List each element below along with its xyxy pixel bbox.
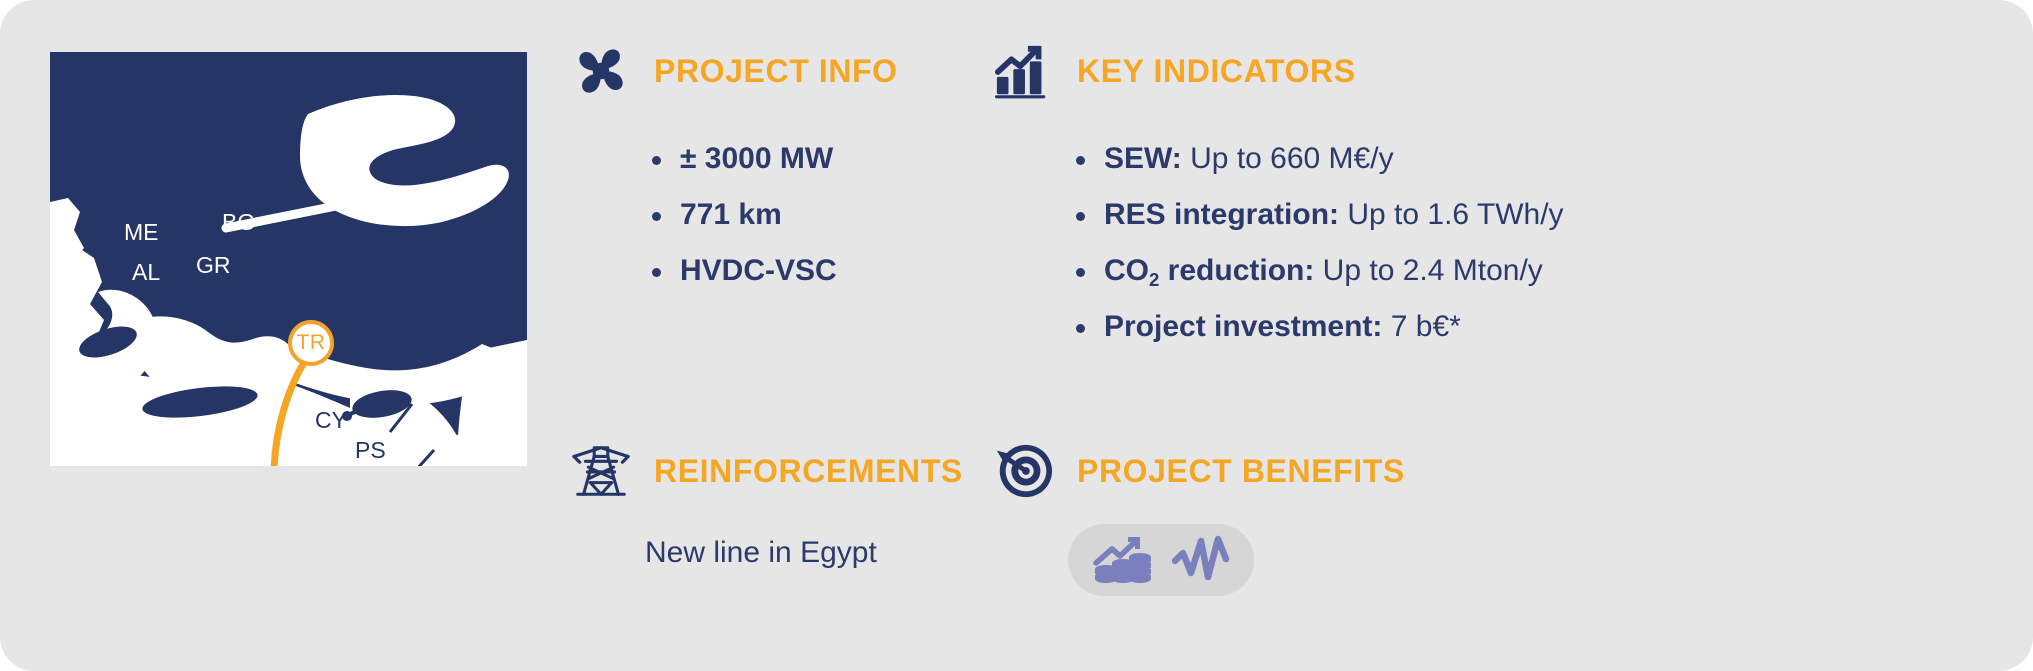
list-item: Project investment: 7 b€*: [1064, 312, 1564, 342]
project-info-header: PROJECT INFO: [570, 40, 898, 102]
interconnector-map[interactable]: ME AL BG GR CY PS IL JO TR EG: [50, 52, 527, 466]
project-benefits-header: PROJECT BENEFITS: [993, 440, 1405, 502]
map-label-al: AL: [132, 259, 160, 285]
volatility-line-icon: [1172, 533, 1230, 587]
key-indicator-label-3: Project investment:: [1104, 310, 1382, 343]
co2-subscript: 2: [1149, 269, 1159, 290]
coins-growth-icon: [1092, 533, 1158, 587]
key-indicator-value-1: Up to 1.6 TWh/y: [1339, 198, 1564, 231]
key-indicator-label-1: RES integration:: [1104, 198, 1339, 231]
list-item: 771 km: [640, 200, 898, 230]
key-indicators-header: KEY INDICATORS: [993, 40, 1564, 102]
project-info-item-2: HVDC-VSC: [680, 254, 837, 287]
list-item: RES integration: Up to 1.6 TWh/y: [1064, 200, 1564, 230]
fan-icon: [570, 40, 632, 102]
project-info-item-1: 771 km: [680, 198, 782, 231]
project-info-list: ± 3000 MW 771 km HVDC-VSC: [640, 144, 898, 286]
key-indicator-value-0: Up to 660 M€/y: [1182, 142, 1394, 175]
list-item: HVDC-VSC: [640, 256, 898, 286]
project-benefits-title: PROJECT BENEFITS: [1077, 453, 1405, 490]
map-label-gr: GR: [196, 252, 231, 278]
map-label-bg: BG: [222, 209, 255, 235]
key-indicators-title: KEY INDICATORS: [1077, 53, 1356, 90]
section-project-info: PROJECT INFO ± 3000 MW 771 km HVDC-VSC: [645, 40, 898, 312]
map-node-tr-label: TR: [297, 331, 326, 355]
key-indicator-value-2: Up to 2.4 Mton/y: [1314, 254, 1542, 287]
map-node-tr[interactable]: TR: [288, 320, 334, 366]
key-indicators-list: SEW: Up to 660 M€/y RES integration: Up …: [1064, 144, 1564, 342]
reinforcements-text: New line in Egypt: [645, 536, 963, 570]
bar-chart-growth-icon: [993, 40, 1055, 102]
target-arrow-icon: [993, 440, 1055, 502]
project-fact-card: ME AL BG GR CY PS IL JO TR EG: [0, 0, 2033, 671]
map-label-cy: CY: [315, 407, 347, 433]
list-item: CO2 reduction: Up to 2.4 Mton/y: [1064, 256, 1564, 286]
section-reinforcements: REINFORCEMENTS New line in Egypt: [645, 440, 963, 570]
key-indicator-value-3: 7 b€*: [1382, 310, 1460, 343]
project-info-title: PROJECT INFO: [654, 53, 898, 90]
map-label-ps: PS: [355, 437, 386, 463]
list-item: ± 3000 MW: [640, 144, 898, 174]
project-info-item-0: ± 3000 MW: [680, 142, 833, 175]
map-label-me: ME: [124, 219, 159, 245]
section-project-benefits: PROJECT BENEFITS: [1068, 440, 1405, 596]
list-item: SEW: Up to 660 M€/y: [1064, 144, 1564, 174]
reinforcements-header: REINFORCEMENTS: [570, 440, 963, 502]
reinforcements-title: REINFORCEMENTS: [654, 453, 963, 490]
project-benefits-badges: [1068, 524, 1254, 596]
key-indicator-label-0: SEW:: [1104, 142, 1182, 175]
key-indicator-label-2: CO2 reduction:: [1104, 254, 1314, 287]
section-key-indicators: KEY INDICATORS SEW: Up to 660 M€/y RES i…: [1068, 40, 1564, 368]
transmission-tower-icon: [570, 440, 632, 502]
